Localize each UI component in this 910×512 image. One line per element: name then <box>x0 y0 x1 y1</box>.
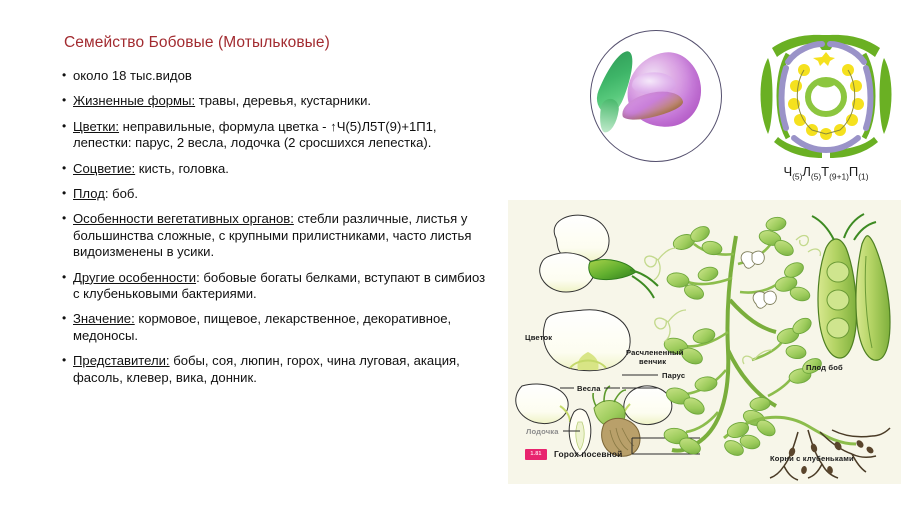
sepal-inner-arcs <box>779 54 873 138</box>
page-title: Семейство Бобовые (Мотыльковые) <box>64 34 494 52</box>
botanical-plate: Цветок Расчлененный венчик Парус Весла Л… <box>508 200 901 484</box>
slide-canvas: Семейство Бобовые (Мотыльковые) около 18… <box>0 0 910 512</box>
bullet-text: травы, деревья, кустарники. <box>195 93 371 108</box>
bullet-fruit: Плод: боб. <box>62 186 494 202</box>
pistil-group <box>808 80 844 114</box>
flower-formula: Ч(5)Л(5)Т(9+1)П(1) <box>752 164 900 182</box>
formula-letter-stamens: Т <box>821 164 829 179</box>
bullet-text: : боб. <box>105 186 138 201</box>
bean-pod-figure <box>812 214 890 360</box>
formula-letter-calyx: Ч <box>783 164 792 179</box>
plate-label-flower: Цветок <box>525 333 552 342</box>
plate-label-dissected-corolla-line2: венчик <box>639 357 666 366</box>
bullet-significance: Значение: кормовое, пищевое, лекарственн… <box>62 311 494 344</box>
bullet-flowers: Цветки: неправильные, формула цветка - ↑… <box>62 119 494 152</box>
figure-number-badge: 1.81 <box>525 449 547 460</box>
bullet-list: около 18 тыс.видов Жизненные формы: трав… <box>62 68 494 386</box>
wing-petal-left <box>516 384 570 424</box>
bullet-inflorescence: Соцветие: кисть, головка. <box>62 161 494 177</box>
formula-sub-corolla: (5) <box>811 172 821 182</box>
bullet-other-features: Другие особенности: бобовые богаты белка… <box>62 270 494 303</box>
bullet-label: Цветки: <box>73 119 119 134</box>
bullet-label: Соцветие: <box>73 161 135 176</box>
bullet-species-count: около 18 тыс.видов <box>62 68 494 84</box>
formula-sub-pistil: (1) <box>858 172 868 182</box>
bullet-life-forms: Жизненные формы: травы, деревья, кустарн… <box>62 93 494 109</box>
plate-label-dissected-corolla: Расчлененный <box>626 348 684 357</box>
formula-letter-pistil: П <box>849 164 858 179</box>
figure-number: 1.81 <box>525 449 547 460</box>
bullet-vegetative-organs: Особенности вегетативных органов: стебли… <box>62 211 494 260</box>
plate-label-root-nodules: Корни с клубеньками <box>770 454 854 463</box>
floral-diagram-svg <box>752 24 900 166</box>
bullet-text: кисть, головка. <box>135 161 229 176</box>
bullet-label: Значение: <box>73 311 135 326</box>
plate-label-keel: Лодочка <box>526 427 559 436</box>
plate-label-banner: Парус <box>662 371 685 380</box>
formula-sub-stamens: (9+1) <box>829 172 849 182</box>
bullet-representatives: Представители: бобы, соя, люпин, горох, … <box>62 353 494 386</box>
bullet-label: Жизненные формы: <box>73 93 195 108</box>
floral-diagram: Ч(5)Л(5)Т(9+1)П(1) <box>752 24 900 194</box>
top-right-panel: Ч(5)Л(5)Т(9+1)П(1) <box>508 24 900 194</box>
stamen-group <box>788 52 864 140</box>
bullet-text: неправильные, формула цветка - ↑Ч(5)Л5Т(… <box>73 119 437 150</box>
plate-label-bean-fruit: Плод боб <box>806 363 843 372</box>
root-nodules-figure <box>722 417 890 480</box>
wing-petal-right <box>622 386 672 425</box>
plate-caption: Горох посевной <box>554 449 622 460</box>
bullet-label: Другие особенности <box>73 270 196 285</box>
plate-label-wings: Весла <box>574 384 604 393</box>
bullet-label: Особенности вегетативных органов: <box>73 211 294 226</box>
formula-sub-calyx: (5) <box>792 172 802 182</box>
pea-flower-photo-icon <box>590 30 722 162</box>
banner-petal-figure <box>543 310 630 371</box>
bullet-label: Плод <box>73 186 105 201</box>
pea-plant-illustration <box>508 200 901 484</box>
formula-letter-corolla: Л <box>802 164 811 179</box>
flower-figure <box>540 215 609 292</box>
text-column: Семейство Бобовые (Мотыльковые) около 18… <box>62 34 494 395</box>
bullet-text: около 18 тыс.видов <box>73 68 192 83</box>
bullet-label: Представители: <box>73 353 170 368</box>
